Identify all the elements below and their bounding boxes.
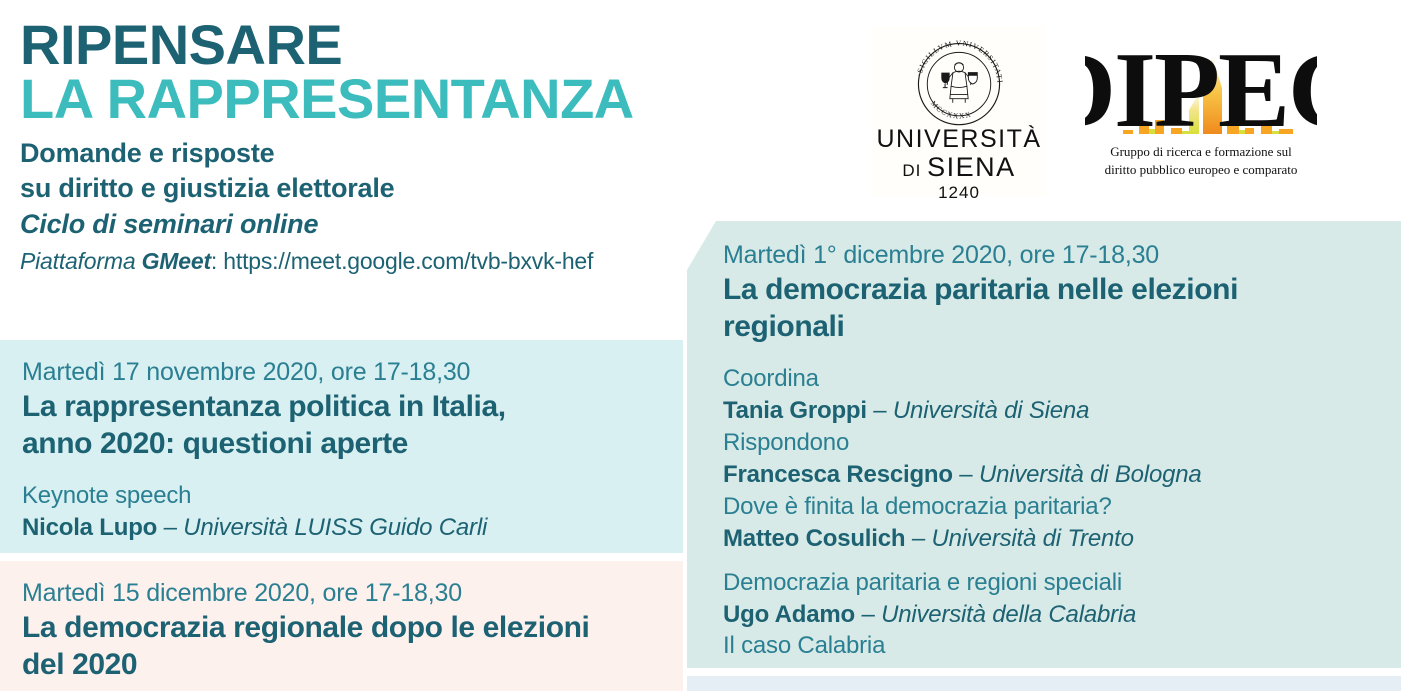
respondents-label: Rispondono (723, 427, 1401, 459)
dipec-tagline-line-2: diritto pubblico europeo e comparato (1085, 161, 1317, 179)
svg-text:DIPEC: DIPEC (1085, 31, 1317, 142)
event-card-next-partial (687, 676, 1401, 691)
respondent-talk-title: Dove è finita la democrazia paritaria? (723, 491, 1401, 523)
event-title: La rappresentanza politica in Italia, an… (22, 389, 661, 462)
event-card-17-novembre: Martedì 17 novembre 2020, ore 17-18,30 L… (0, 340, 683, 553)
keynote-label: Keynote speech (22, 480, 661, 512)
event-title: La democrazia regionale dopo le elezioni… (22, 610, 661, 683)
poster-canvas: RIPENSARE LA RAPPRESENTANZA Domande e ri… (0, 0, 1401, 691)
event-title-line-2: del 2020 (22, 647, 661, 684)
siena-line-2: DI SIENA (872, 152, 1046, 182)
siena-line-3: 1240 (872, 182, 1046, 204)
dipec-tagline: Gruppo di ricerca e formazione sul dirit… (1085, 143, 1317, 178)
subtitle-line-3: Ciclo di seminari online (20, 207, 800, 243)
spacer (723, 555, 1401, 567)
respondent-affiliation: Università di Trento (931, 525, 1133, 552)
dipec-tagline-line-1: Gruppo di ricerca e formazione sul (1085, 143, 1317, 161)
dipec-wordmark-icon: DIPEC (1085, 30, 1317, 142)
respondent-dash: – (855, 601, 881, 628)
siena-wordmark: UNIVERSITÀ DI SIENA 1240 (872, 126, 1046, 205)
event-card-15-dicembre: Martedì 15 dicembre 2020, ore 17-18,30 L… (0, 561, 683, 691)
event-date: Martedì 17 novembre 2020, ore 17-18,30 (22, 356, 661, 388)
event-title-line-2: anno 2020: questioni aperte (22, 426, 661, 463)
coordinator-label: Coordina (723, 363, 1401, 395)
event-title-line-1: La democrazia regionale dopo le elezioni (22, 610, 661, 647)
respondent-dash: – (905, 525, 931, 552)
respondent-dash: – (953, 461, 979, 488)
respondent-entry: Matteo Cosulich – Università di Trento (723, 523, 1401, 555)
platform-label: Piattaforma (20, 248, 142, 274)
event-date: Martedì 1° dicembre 2020, ore 17-18,30 (723, 239, 1401, 271)
coordinator-dash: – (867, 397, 893, 424)
platform-url[interactable]: https://meet.google.com/tvb-bxvk-hef (223, 248, 593, 274)
respondent-talk-title: Il caso Calabria (723, 630, 1401, 662)
event-title-line-1: La rappresentanza politica in Italia, (22, 389, 661, 426)
siena-line-2-main: SIENA (927, 152, 1016, 182)
subtitle-line-1: Domande e risposte (20, 136, 800, 172)
page-title-line-2: LA RAPPRESENTANZA (20, 72, 800, 126)
event-title: La democrazia paritaria nelle elezioni r… (723, 272, 1401, 345)
coordinator-affiliation: Università di Siena (893, 397, 1089, 424)
poster-title-block: RIPENSARE LA RAPPRESENTANZA Domande e ri… (20, 18, 800, 278)
event-title-line-2: regionali (723, 309, 1401, 346)
respondent-affiliation: Università di Bologna (979, 461, 1202, 488)
event-card-1-dicembre: Martedì 1° dicembre 2020, ore 17-18,30 L… (687, 221, 1401, 668)
keynote-speaker-dash: – (157, 514, 183, 541)
event-title-line-1: La democrazia paritaria nelle elezioni (723, 272, 1401, 309)
siena-seal-icon: ·SIGILLVM VNIVERSITATIS SENARVM· MCCXXXX (907, 30, 1011, 134)
subtitle-line-2: su diritto e giustizia elettorale (20, 171, 800, 207)
coordinator-entry: Tania Groppi – Università di Siena (723, 395, 1401, 427)
dipec-logo: DIPEC Gruppo di ricerca e formazione sul… (1085, 30, 1317, 190)
keynote-speaker-affiliation: Università LUISS Guido Carli (183, 514, 487, 541)
platform-name: GMeet (142, 248, 211, 274)
siena-university-logo: ·SIGILLVM VNIVERSITATIS SENARVM· MCCXXXX (872, 26, 1046, 196)
respondent-name: Ugo Adamo (723, 601, 855, 628)
spacer (723, 345, 1401, 363)
page-title-line-1: RIPENSARE (20, 18, 800, 72)
respondent-affiliation: Università della Calabria (881, 601, 1136, 628)
respondent-entry: Ugo Adamo – Università della Calabria (723, 599, 1401, 631)
siena-line-1: UNIVERSITÀ (872, 126, 1046, 152)
spacer (22, 462, 661, 480)
keynote-speaker-name: Nicola Lupo (22, 514, 157, 541)
platform-separator: : (211, 248, 223, 274)
respondent-name: Francesca Rescigno (723, 461, 953, 488)
coordinator-name: Tania Groppi (723, 397, 867, 424)
respondent-name: Matteo Cosulich (723, 525, 905, 552)
topic-label: Democrazia paritaria e regioni speciali (723, 567, 1401, 599)
event-date: Martedì 15 dicembre 2020, ore 17-18,30 (22, 577, 661, 609)
keynote-speaker-entry: Nicola Lupo – Università LUISS Guido Car… (22, 512, 661, 544)
siena-line-2-prefix: DI (902, 161, 927, 180)
platform-line: Piattaforma GMeet: https://meet.google.c… (20, 245, 800, 278)
respondent-entry: Francesca Rescigno – Università di Bolog… (723, 459, 1401, 491)
